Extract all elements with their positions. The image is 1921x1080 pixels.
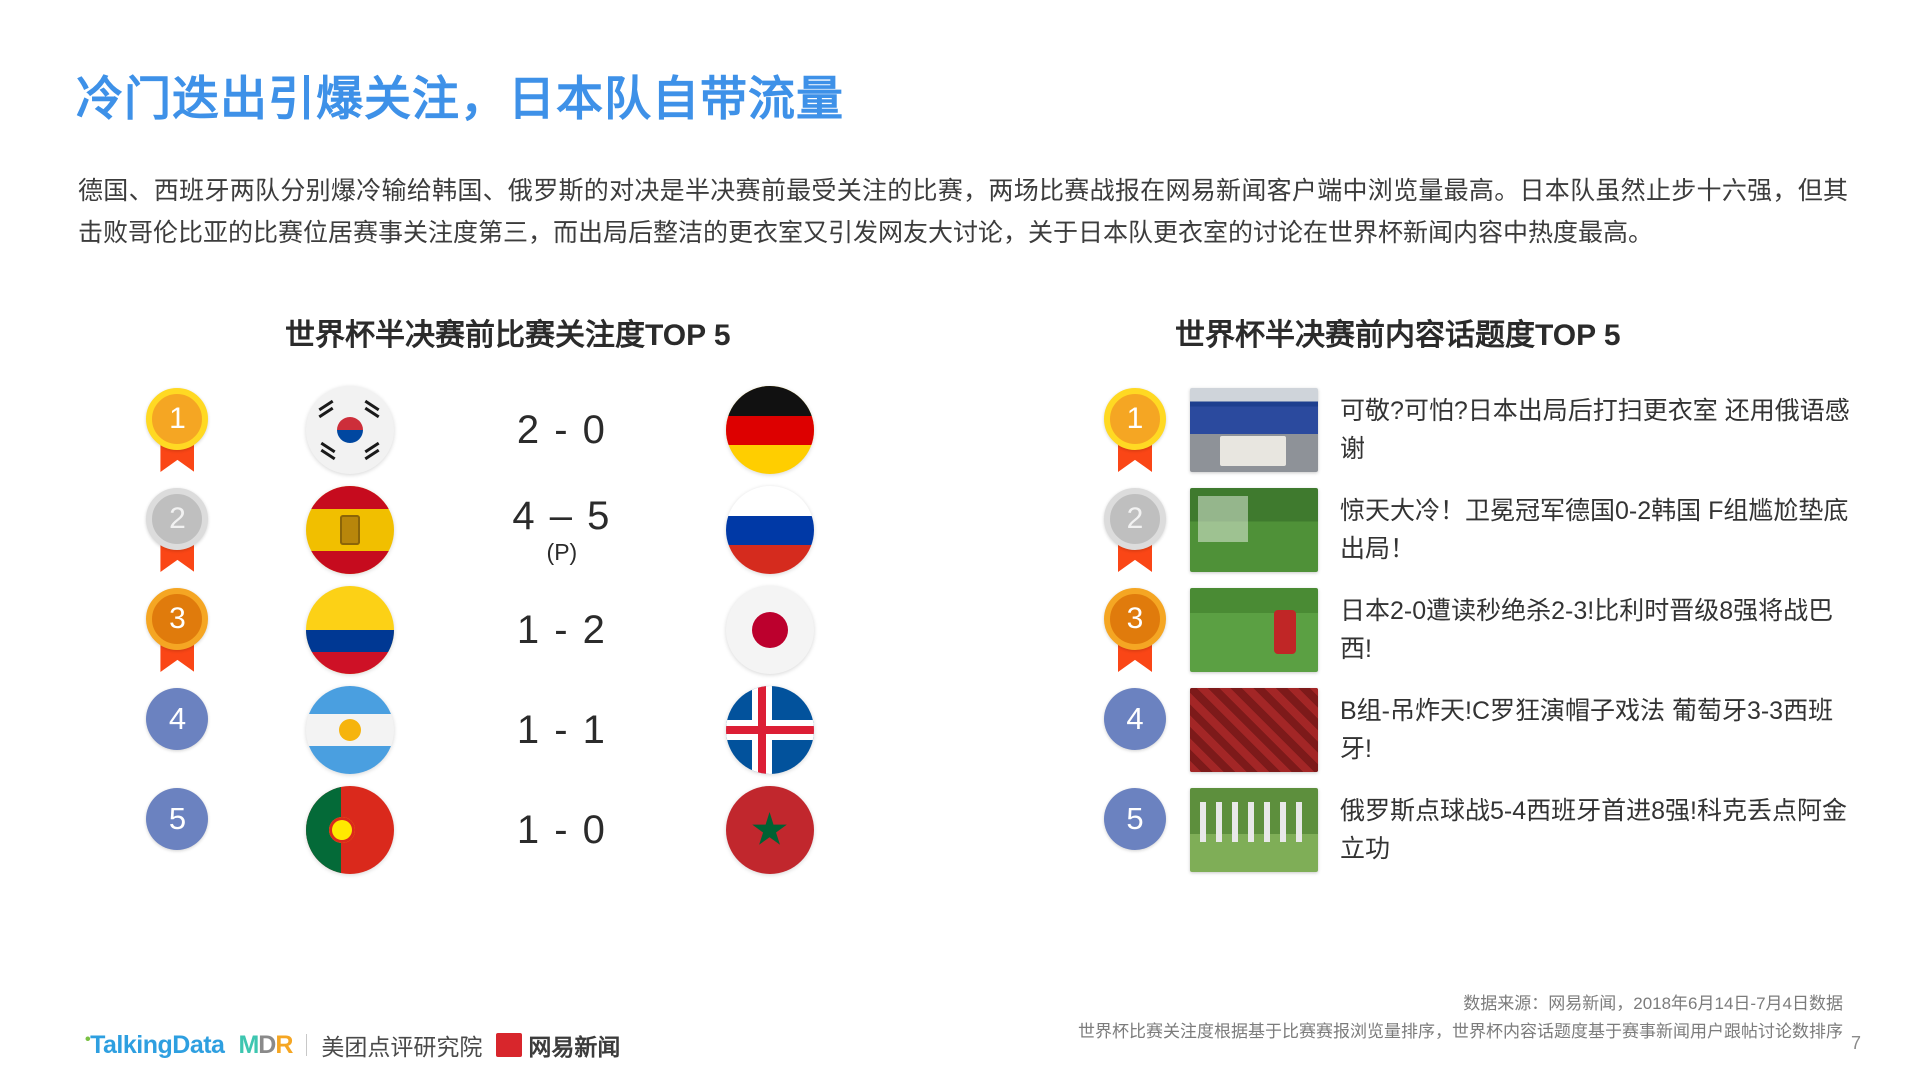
rank-medal-3: 3 xyxy=(1104,588,1166,672)
news-row[interactable]: 1可敬?可怕?日本出局后打扫更衣室 还用俄语感谢 xyxy=(1080,380,1860,480)
rank-cell: 2 xyxy=(1080,488,1190,572)
data-source-note: 数据来源：网易新闻，2018年6月14日-7月4日数据 世界杯比赛关注度根据基于… xyxy=(943,990,1843,1046)
home-team-cell xyxy=(235,486,465,574)
score-cell: 2 - 0 xyxy=(465,408,659,452)
score-cell: 1 - 2 xyxy=(465,608,659,652)
rank-medal-4: 4 xyxy=(1104,688,1166,772)
rank-cell: 2 xyxy=(120,488,235,572)
logo-divider xyxy=(306,1034,307,1056)
fans-crowd-photo xyxy=(1190,688,1318,772)
rank-cell: 4 xyxy=(120,688,235,772)
page-number: 7 xyxy=(1851,1033,1861,1054)
rank-number: 1 xyxy=(1104,388,1166,450)
rank-cell: 1 xyxy=(1080,388,1190,472)
score-text: 1 - 2 xyxy=(465,608,659,652)
news-row[interactable]: 3日本2-0遭读秒绝杀2-3!比利时晋级8强将战巴西! xyxy=(1080,580,1860,680)
score-cell: 1 - 0 xyxy=(465,808,659,852)
home-team-cell xyxy=(235,386,465,474)
score-cell: 4 – 5(P) xyxy=(465,494,659,566)
south-korea-flag xyxy=(306,386,394,474)
rank-number: 4 xyxy=(146,688,208,750)
away-team-cell xyxy=(659,586,880,674)
rank-cell: 5 xyxy=(120,788,235,872)
russia-flag xyxy=(726,486,814,574)
spain-flag xyxy=(306,486,394,574)
rank-cell: 3 xyxy=(1080,588,1190,672)
iceland-flag xyxy=(726,686,814,774)
home-team-cell xyxy=(235,686,465,774)
portugal-flag xyxy=(306,786,394,874)
slide-root: 冷门迭出引爆关注，日本队自带流量 德国、西班牙两队分别爆冷输给韩国、俄罗斯的对决… xyxy=(0,0,1921,1080)
meituan-research-logo: 美团点评研究院 xyxy=(321,1028,482,1062)
rank-medal-2: 2 xyxy=(1104,488,1166,572)
score-cell: 1 - 1 xyxy=(465,708,659,752)
colombia-flag xyxy=(306,586,394,674)
talkingdata-logo: •TalkingData xyxy=(85,1031,224,1060)
rank-cell: 1 xyxy=(120,388,235,472)
news-headline: 俄罗斯点球战5-4西班牙首进8强!科克丢点阿金立功 xyxy=(1340,792,1860,868)
rank-cell: 4 xyxy=(1080,688,1190,772)
japan-belgium-photo xyxy=(1190,588,1318,672)
morocco-flag xyxy=(726,786,814,874)
penalty-celebration-photo xyxy=(1190,788,1318,872)
netease-news-logo: 网易新闻 xyxy=(496,1028,620,1062)
mdr-logo: MDR xyxy=(238,1031,292,1060)
intro-paragraph: 德国、西班牙两队分别爆冷输给韩国、俄罗斯的对决是半决赛前最受关注的比赛，两场比赛… xyxy=(78,170,1848,254)
page-title: 冷门迭出引爆关注，日本队自带流量 xyxy=(76,60,844,129)
footer-logos: •TalkingData MDR 美团点评研究院 网易新闻 xyxy=(85,1028,620,1062)
rank-medal-3: 3 xyxy=(146,588,208,672)
score-text: 1 - 0 xyxy=(465,808,659,852)
rank-cell: 5 xyxy=(1080,788,1190,872)
right-column-heading: 世界杯半决赛前内容话题度TOP 5 xyxy=(1175,310,1621,354)
rank-number: 2 xyxy=(1104,488,1166,550)
score-text: 1 - 1 xyxy=(465,708,659,752)
match-row: 31 - 2 xyxy=(120,580,880,680)
score-text: 4 – 5 xyxy=(465,494,659,538)
news-headline: 日本2-0遭读秒绝杀2-3!比利时晋级8强将战巴西! xyxy=(1340,592,1860,668)
rank-number: 2 xyxy=(146,488,208,550)
match-attention-list: 12 - 024 – 5(P)31 - 241 - 151 - 0 xyxy=(120,380,880,880)
rank-number: 4 xyxy=(1104,688,1166,750)
japan-flag xyxy=(726,586,814,674)
source-line-2: 世界杯比赛关注度根据基于比赛赛报浏览量排序，世界杯内容话题度基于赛事新闻用户跟帖… xyxy=(943,1018,1843,1046)
rank-number: 3 xyxy=(146,588,208,650)
locker-room-photo xyxy=(1190,388,1318,472)
source-line-1: 数据来源：网易新闻，2018年6月14日-7月4日数据 xyxy=(943,990,1843,1018)
goal-mouth-photo xyxy=(1190,488,1318,572)
away-team-cell xyxy=(659,786,880,874)
match-row: 51 - 0 xyxy=(120,780,880,880)
news-row[interactable]: 5俄罗斯点球战5-4西班牙首进8强!科克丢点阿金立功 xyxy=(1080,780,1860,880)
score-text: 2 - 0 xyxy=(465,408,659,452)
news-headline: 可敬?可怕?日本出局后打扫更衣室 还用俄语感谢 xyxy=(1340,392,1860,468)
left-column-heading: 世界杯半决赛前比赛关注度TOP 5 xyxy=(285,310,731,354)
rank-number: 1 xyxy=(146,388,208,450)
match-row: 12 - 0 xyxy=(120,380,880,480)
rank-medal-2: 2 xyxy=(146,488,208,572)
rank-medal-1: 1 xyxy=(1104,388,1166,472)
rank-number: 3 xyxy=(1104,588,1166,650)
rank-medal-1: 1 xyxy=(146,388,208,472)
news-headline: B组-吊炸天!C罗狂演帽子戏法 葡萄牙3-3西班牙! xyxy=(1340,692,1860,768)
rank-medal-5: 5 xyxy=(146,788,208,872)
news-row[interactable]: 4B组-吊炸天!C罗狂演帽子戏法 葡萄牙3-3西班牙! xyxy=(1080,680,1860,780)
netease-icon xyxy=(496,1033,522,1057)
score-note: (P) xyxy=(465,538,659,566)
away-team-cell xyxy=(659,386,880,474)
rank-number: 5 xyxy=(146,788,208,850)
match-row: 24 – 5(P) xyxy=(120,480,880,580)
news-topic-list: 1可敬?可怕?日本出局后打扫更衣室 还用俄语感谢2惊天大冷！卫冕冠军德国0-2韩… xyxy=(1080,380,1860,880)
rank-medal-4: 4 xyxy=(146,688,208,772)
away-team-cell xyxy=(659,686,880,774)
news-headline: 惊天大冷！卫冕冠军德国0-2韩国 F组尴尬垫底出局！ xyxy=(1340,492,1860,568)
news-row[interactable]: 2惊天大冷！卫冕冠军德国0-2韩国 F组尴尬垫底出局！ xyxy=(1080,480,1860,580)
home-team-cell xyxy=(235,586,465,674)
rank-number: 5 xyxy=(1104,788,1166,850)
home-team-cell xyxy=(235,786,465,874)
argentina-flag xyxy=(306,686,394,774)
away-team-cell xyxy=(659,486,880,574)
rank-cell: 3 xyxy=(120,588,235,672)
match-row: 41 - 1 xyxy=(120,680,880,780)
germany-flag xyxy=(726,386,814,474)
rank-medal-5: 5 xyxy=(1104,788,1166,872)
